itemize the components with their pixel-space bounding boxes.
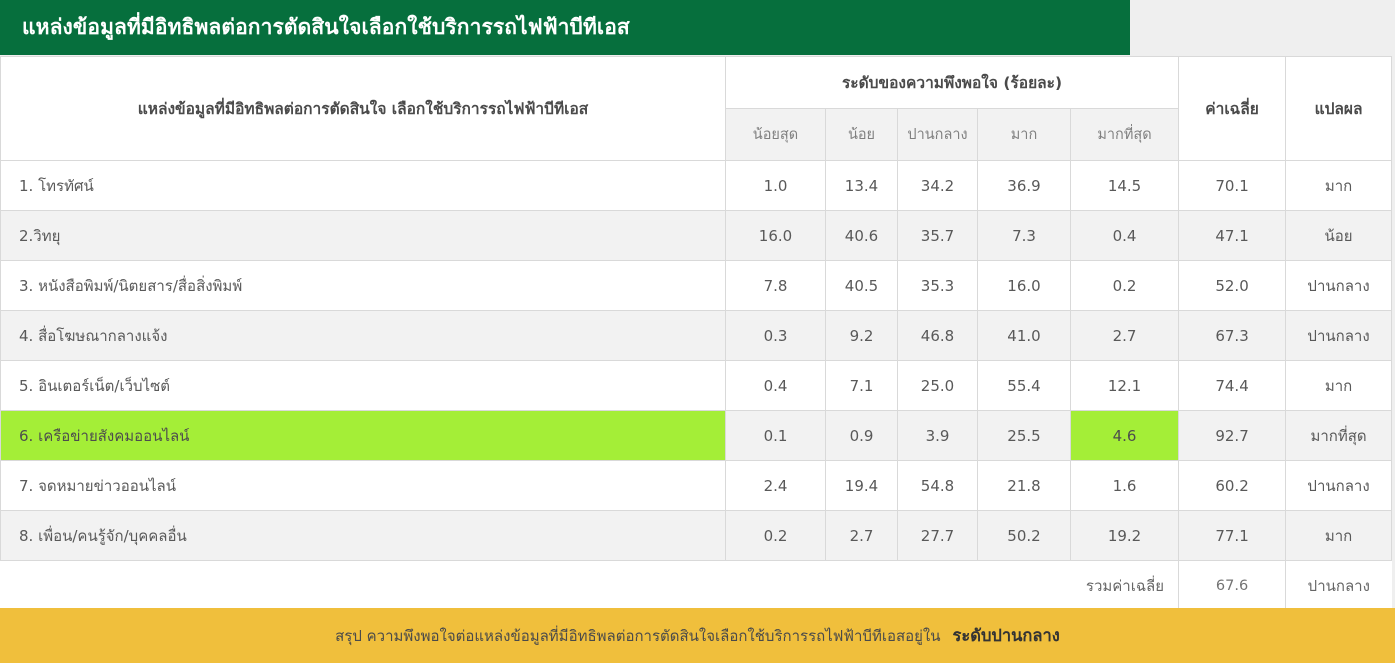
row-interpretation-cell: น้อย — [1286, 211, 1392, 261]
row-value-cell: 27.7 — [898, 511, 978, 561]
table-row: 8. เพื่อน/คนรู้จัก/บุคคลอื่น0.22.727.750… — [1, 511, 1392, 561]
row-mean-cell: 60.2 — [1179, 461, 1286, 511]
row-interpretation-cell: ปานกลาง — [1286, 261, 1392, 311]
header-level-highest: มากที่สุด — [1071, 109, 1179, 161]
row-mean-cell: 52.0 — [1179, 261, 1286, 311]
total-row: รวมค่าเฉลี่ย 67.6 ปานกลาง — [1, 561, 1392, 611]
row-source-label: 7. จดหมายข่าวออนไลน์ — [1, 461, 726, 511]
total-spacer — [1, 561, 1071, 611]
row-value-cell: 2.4 — [726, 461, 826, 511]
row-value-cell: 0.2 — [726, 511, 826, 561]
row-value-cell: 25.0 — [898, 361, 978, 411]
summary-text: สรุป ความพึงพอใจต่อแหล่งข้อมูลที่มีอิทธิ… — [335, 624, 940, 648]
table-row: 4. สื่อโฆษณากลางแจ้ง0.39.246.841.02.767.… — [1, 311, 1392, 361]
page-title: แหล่งข้อมูลที่มีอิทธิพลต่อการตัดสินใจเลื… — [22, 11, 630, 44]
header-level-least: น้อยสุด — [726, 109, 826, 161]
summary-level-badge: ระดับปานกลาง — [953, 623, 1060, 649]
table-row: 1. โทรทัศน์1.013.434.236.914.570.1มาก — [1, 161, 1392, 211]
row-value-cell: 9.2 — [826, 311, 898, 361]
table-container: แหล่งข้อมูลที่มีอิทธิพลต่อการตัดสินใจ เล… — [0, 56, 1393, 611]
satisfaction-table: แหล่งข้อมูลที่มีอิทธิพลต่อการตัดสินใจ เล… — [0, 56, 1392, 611]
row-value-cell: 41.0 — [978, 311, 1071, 361]
header-level-high: มาก — [978, 109, 1071, 161]
row-value-cell: 4.6 — [1071, 411, 1179, 461]
row-value-cell: 19.4 — [826, 461, 898, 511]
header-mean: ค่าเฉลี่ย — [1179, 57, 1286, 161]
header-interpretation: แปลผล — [1286, 57, 1392, 161]
row-interpretation-cell: ปานกลาง — [1286, 311, 1392, 361]
row-value-cell: 16.0 — [726, 211, 826, 261]
row-value-cell: 36.9 — [978, 161, 1071, 211]
row-value-cell: 25.5 — [978, 411, 1071, 461]
row-source-label: 6. เครือข่ายสังคมออนไลน์ — [1, 411, 726, 461]
summary-bar: สรุป ความพึงพอใจต่อแหล่งข้อมูลที่มีอิทธิ… — [0, 608, 1395, 663]
row-mean-cell: 92.7 — [1179, 411, 1286, 461]
table-foot: รวมค่าเฉลี่ย 67.6 ปานกลาง — [1, 561, 1392, 611]
row-value-cell: 35.7 — [898, 211, 978, 261]
page-root: แหล่งข้อมูลที่มีอิทธิพลต่อการตัดสินใจเลื… — [0, 0, 1395, 663]
row-value-cell: 46.8 — [898, 311, 978, 361]
row-value-cell: 1.6 — [1071, 461, 1179, 511]
row-value-cell: 21.8 — [978, 461, 1071, 511]
row-value-cell: 7.3 — [978, 211, 1071, 261]
row-value-cell: 13.4 — [826, 161, 898, 211]
table-row: 3. หนังสือพิมพ์/นิตยสาร/สื่อสิ่งพิมพ์7.8… — [1, 261, 1392, 311]
row-value-cell: 12.1 — [1071, 361, 1179, 411]
row-value-cell: 35.3 — [898, 261, 978, 311]
row-mean-cell: 74.4 — [1179, 361, 1286, 411]
total-interpretation: ปานกลาง — [1286, 561, 1392, 611]
row-mean-cell: 67.3 — [1179, 311, 1286, 361]
header-source-column: แหล่งข้อมูลที่มีอิทธิพลต่อการตัดสินใจ เล… — [1, 57, 726, 161]
row-value-cell: 34.2 — [898, 161, 978, 211]
page-title-bar: แหล่งข้อมูลที่มีอิทธิพลต่อการตัดสินใจเลื… — [0, 0, 1130, 55]
row-mean-cell: 70.1 — [1179, 161, 1286, 211]
row-source-label: 4. สื่อโฆษณากลางแจ้ง — [1, 311, 726, 361]
row-source-label: 8. เพื่อน/คนรู้จัก/บุคคลอื่น — [1, 511, 726, 561]
row-value-cell: 55.4 — [978, 361, 1071, 411]
header-satisfaction-group: ระดับของความพึงพอใจ (ร้อยละ) — [726, 57, 1179, 109]
row-source-label: 2.วิทยุ — [1, 211, 726, 261]
table-row: 5. อินเตอร์เน็ต/เว็บไซต์0.47.125.055.412… — [1, 361, 1392, 411]
row-value-cell: 0.2 — [1071, 261, 1179, 311]
row-value-cell: 0.4 — [726, 361, 826, 411]
table-row: 7. จดหมายข่าวออนไลน์2.419.454.821.81.660… — [1, 461, 1392, 511]
table-row: 2.วิทยุ16.040.635.77.30.447.1น้อย — [1, 211, 1392, 261]
table-row: 6. เครือข่ายสังคมออนไลน์0.10.93.925.54.6… — [1, 411, 1392, 461]
row-source-label: 1. โทรทัศน์ — [1, 161, 726, 211]
header-level-low: น้อย — [826, 109, 898, 161]
table-body: 1. โทรทัศน์1.013.434.236.914.570.1มาก2.ว… — [1, 161, 1392, 561]
row-value-cell: 40.5 — [826, 261, 898, 311]
row-value-cell: 3.9 — [898, 411, 978, 461]
row-mean-cell: 77.1 — [1179, 511, 1286, 561]
row-value-cell: 16.0 — [978, 261, 1071, 311]
table-header-row-1: แหล่งข้อมูลที่มีอิทธิพลต่อการตัดสินใจ เล… — [1, 57, 1392, 109]
total-label: รวมค่าเฉลี่ย — [1071, 561, 1179, 611]
row-interpretation-cell: มาก — [1286, 361, 1392, 411]
row-value-cell: 0.1 — [726, 411, 826, 461]
row-value-cell: 14.5 — [1071, 161, 1179, 211]
row-value-cell: 50.2 — [978, 511, 1071, 561]
row-value-cell: 0.4 — [1071, 211, 1179, 261]
row-interpretation-cell: ปานกลาง — [1286, 461, 1392, 511]
row-mean-cell: 47.1 — [1179, 211, 1286, 261]
row-interpretation-cell: มาก — [1286, 161, 1392, 211]
row-value-cell: 0.3 — [726, 311, 826, 361]
table-head: แหล่งข้อมูลที่มีอิทธิพลต่อการตัดสินใจ เล… — [1, 57, 1392, 161]
row-source-label: 5. อินเตอร์เน็ต/เว็บไซต์ — [1, 361, 726, 411]
row-interpretation-cell: มากที่สุด — [1286, 411, 1392, 461]
row-value-cell: 40.6 — [826, 211, 898, 261]
row-value-cell: 19.2 — [1071, 511, 1179, 561]
row-value-cell: 1.0 — [726, 161, 826, 211]
row-value-cell: 2.7 — [1071, 311, 1179, 361]
row-interpretation-cell: มาก — [1286, 511, 1392, 561]
row-value-cell: 7.8 — [726, 261, 826, 311]
row-value-cell: 0.9 — [826, 411, 898, 461]
row-value-cell: 54.8 — [898, 461, 978, 511]
header-level-medium: ปานกลาง — [898, 109, 978, 161]
row-value-cell: 7.1 — [826, 361, 898, 411]
row-source-label: 3. หนังสือพิมพ์/นิตยสาร/สื่อสิ่งพิมพ์ — [1, 261, 726, 311]
total-mean-value: 67.6 — [1179, 561, 1286, 611]
row-value-cell: 2.7 — [826, 511, 898, 561]
